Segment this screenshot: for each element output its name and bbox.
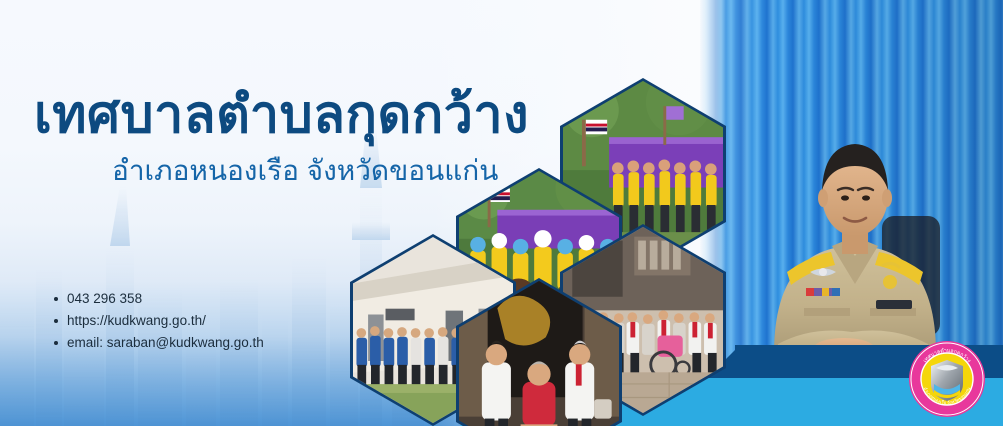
- municipality-seal-logo[interactable]: เทศบาลตำบลกุดกว้าง อำเภอหนองเรือ จังหวัด…: [908, 340, 986, 418]
- contact-phone-text: 043 296 358: [67, 291, 142, 306]
- contact-email-text[interactable]: email: saraban@kudkwang.go.th: [67, 335, 264, 350]
- contact-item-website[interactable]: https://kudkwang.go.th/: [52, 310, 264, 332]
- site-banner: เทศบาลตำบลกุดกว้าง อำเภอหนองเรือ จังหวัด…: [0, 0, 1003, 426]
- contact-item-email[interactable]: email: saraban@kudkwang.go.th: [52, 332, 264, 354]
- collage-hex-5[interactable]: [456, 278, 622, 426]
- contact-item-phone: 043 296 358: [52, 288, 264, 310]
- collage-photo-5: [459, 281, 619, 426]
- contact-list: 043 296 358 https://kudkwang.go.th/ emai…: [52, 288, 264, 354]
- page-title: เทศบาลตำบลกุดกว้าง: [34, 88, 529, 143]
- page-subtitle: อำเภอหนองเรือ จังหวัดขอนแก่น: [112, 156, 498, 187]
- mayor-figure: [740, 96, 970, 356]
- contact-website-text[interactable]: https://kudkwang.go.th/: [67, 313, 206, 328]
